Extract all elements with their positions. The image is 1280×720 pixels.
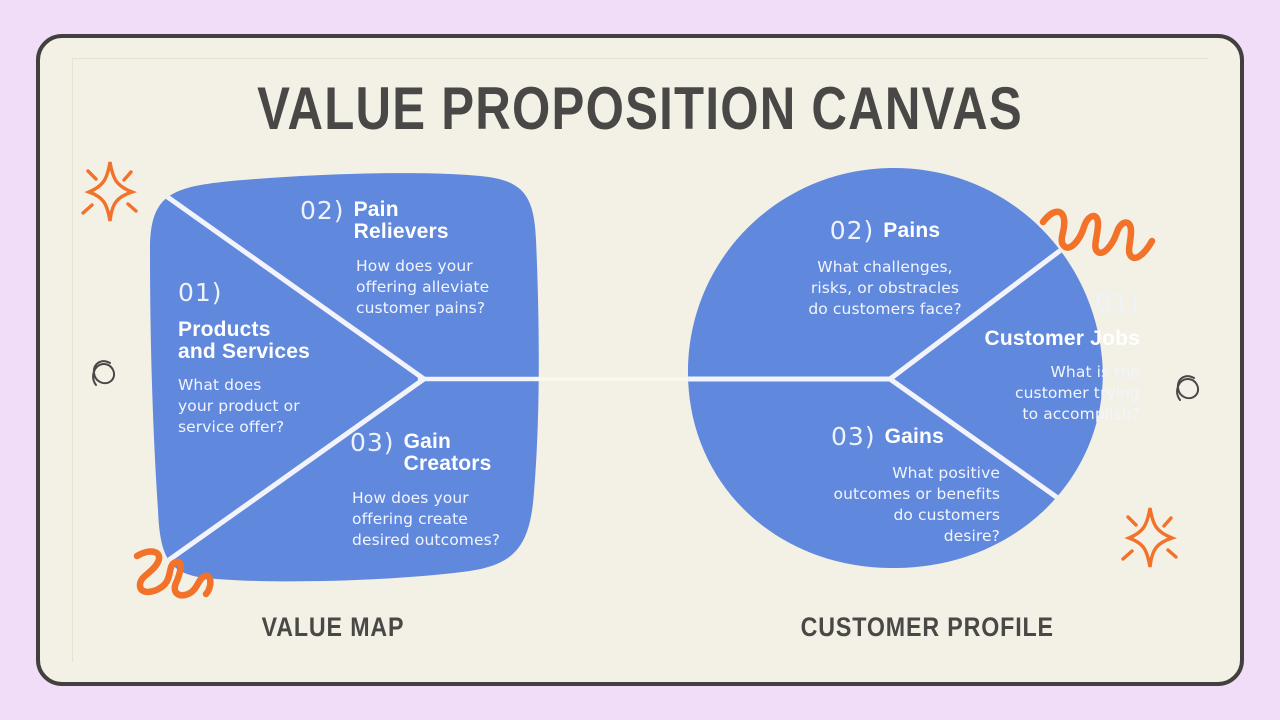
segment-heading-line1: Gain (404, 431, 492, 453)
segment-body-line3: do customers (775, 505, 1000, 526)
segment-body-line2: offering create (352, 509, 570, 530)
segment-body-line1: What challenges, (770, 257, 1000, 278)
segment-body-line4: desire? (775, 526, 1000, 547)
segment-heading-line1: Products (178, 319, 358, 341)
segment-body-line3: service offer? (178, 417, 358, 438)
segment-body-line3: customer pains? (356, 298, 520, 319)
sparkle-bottom-right-icon (1123, 508, 1176, 567)
segment-heading: Gains (885, 422, 944, 448)
segment-body-line1: How does your (352, 488, 570, 509)
segment-body-line2: outcomes or benefits (775, 484, 1000, 505)
segment-body-line3: desired outcomes? (352, 530, 570, 551)
segment-heading: Pains (883, 216, 940, 242)
sparkle-top-left-icon (83, 162, 136, 221)
segment-heading: Customer Jobs (930, 328, 1140, 350)
segment-number: 01) (930, 288, 1140, 317)
segment-body-line2: offering alleviate (356, 277, 520, 298)
value-map-segment-pain-relievers[interactable]: 02) Pain Relievers How does your offerin… (300, 196, 520, 319)
value-map-segment-gain-creators[interactable]: 03) Gain Creators How does your offering… (350, 428, 570, 551)
segment-body-line1: What does (178, 375, 358, 396)
segment-body-line2: customer trying (930, 383, 1140, 404)
segment-number: 02) (300, 196, 345, 225)
segment-body-line1: What is the (930, 362, 1140, 383)
customer-profile-segment-customer-jobs[interactable]: 01) Customer Jobs What is the customer t… (930, 288, 1140, 425)
segment-number: 03) (350, 428, 395, 457)
customer-profile-footer-label: CUSTOMER PROFILE (801, 612, 1054, 643)
value-map-footer-label: VALUE MAP (262, 612, 405, 643)
segment-body-line1: How does your (356, 256, 520, 277)
customer-profile-segment-gains[interactable]: 03) Gains What positive outcomes or bene… (775, 422, 1000, 547)
segment-heading-line2: and Services (178, 341, 358, 363)
spiral-left-icon (93, 361, 114, 385)
segment-heading-line2: Relievers (354, 221, 449, 243)
segment-number: 03) (831, 422, 876, 451)
segment-body-line2: your product or (178, 396, 358, 417)
segment-heading-line2: Creators (404, 453, 492, 475)
canvas-stage: VALUE PROPOSITION CANVAS (0, 0, 1280, 720)
segment-number: 02) (830, 216, 875, 245)
spiral-right-icon (1177, 376, 1198, 400)
segment-heading-line1: Pain (354, 199, 449, 221)
segment-body-line1: What positive (775, 463, 1000, 484)
